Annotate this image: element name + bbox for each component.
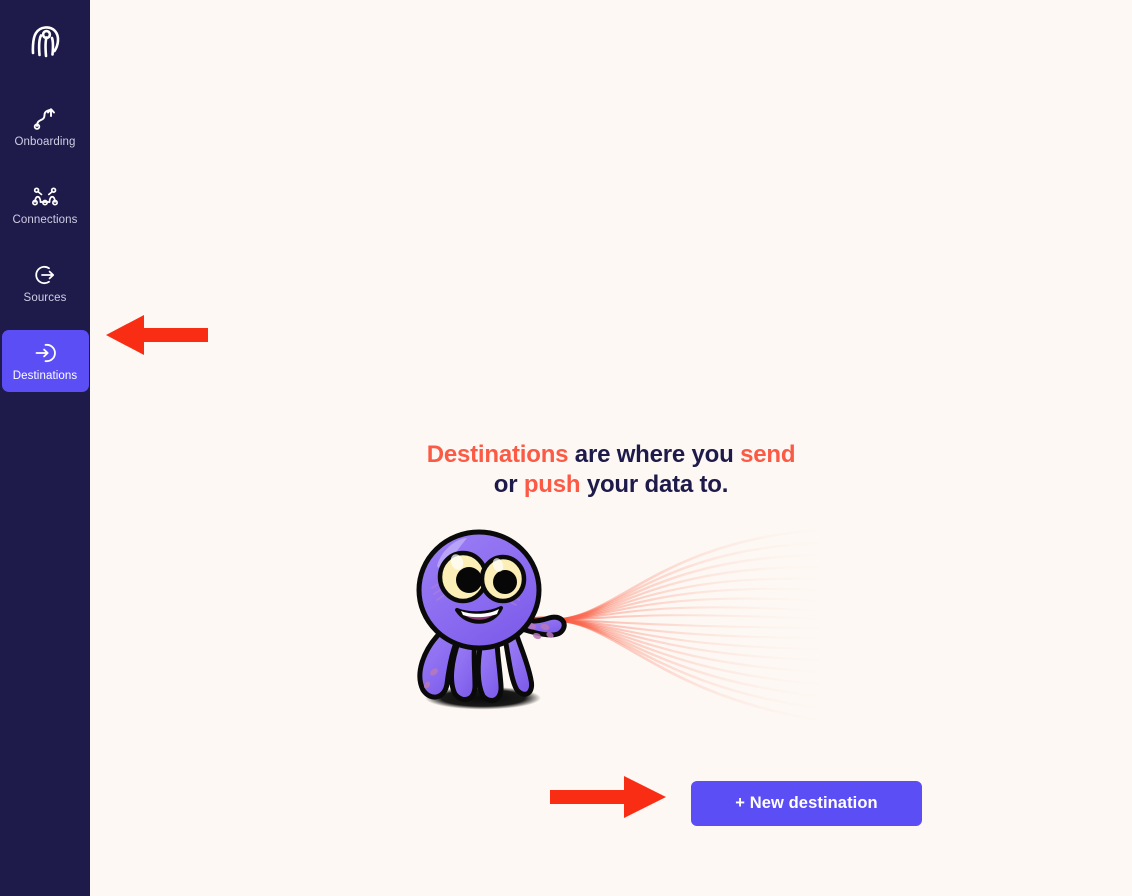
octopus-mascot-with-data-beam: [401, 522, 821, 742]
sidebar-item-sources[interactable]: Sources: [2, 252, 89, 314]
sidebar-item-label: Connections: [12, 215, 77, 227]
source-circle-arrow-out-icon: [32, 262, 58, 288]
sidebar-item-label: Onboarding: [14, 137, 75, 149]
headline-word-push: push: [524, 471, 581, 498]
headline-word-destinations: Destinations: [427, 441, 569, 468]
destination-circle-arrow-in-icon: [32, 340, 58, 366]
connections-network-icon: [30, 184, 60, 210]
main-content: Destinations are where you send or push …: [90, 0, 1132, 896]
airbyte-octopus-logo[interactable]: [17, 14, 73, 66]
page-headline: Destinations are where you send or push …: [427, 440, 796, 500]
sidebar-item-label: Destinations: [13, 371, 77, 383]
onboarding-path-arrow-icon: [32, 106, 58, 132]
headline-text-2: or: [494, 471, 524, 498]
sidebar-item-destinations[interactable]: Destinations: [2, 330, 89, 392]
sidebar-item-onboarding[interactable]: Onboarding: [2, 96, 89, 158]
sidebar-item-label: Sources: [24, 293, 67, 305]
headline-text-3: your data to.: [580, 471, 728, 498]
headline-text-1: are where you: [568, 441, 740, 468]
sidebar: Onboarding: [0, 0, 90, 896]
headline-word-send: send: [740, 441, 795, 468]
app-root: Onboarding: [0, 0, 1132, 896]
new-destination-button[interactable]: + New destination: [691, 781, 922, 826]
empty-state-hero: Destinations are where you send or push …: [90, 440, 1132, 742]
sidebar-item-connections[interactable]: Connections: [2, 174, 89, 236]
